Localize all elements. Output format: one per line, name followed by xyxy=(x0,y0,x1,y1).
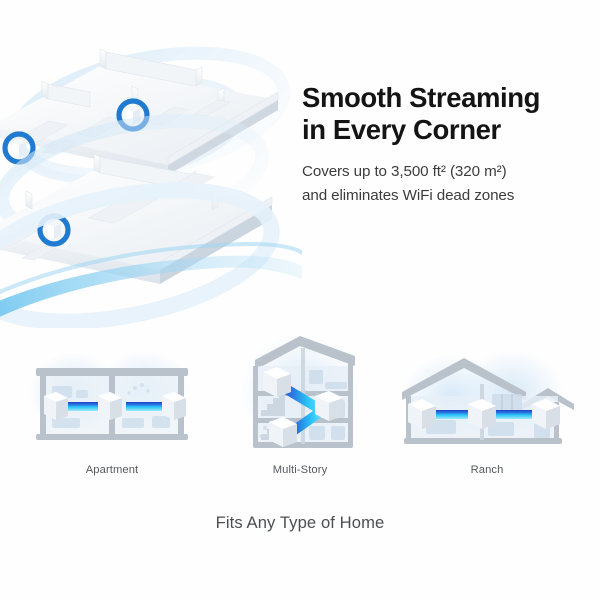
home-type-multistory: Multi-Story xyxy=(205,330,395,476)
page-title: Smooth Streaming in Every Corner xyxy=(302,82,582,146)
ranch-cutaway-icon xyxy=(392,330,582,460)
floorplan-illustration xyxy=(0,18,302,328)
multistory-cutaway-icon xyxy=(205,330,395,460)
home-type-label: Apartment xyxy=(22,464,202,476)
hero-copy: Smooth Streaming in Every Corner Covers … xyxy=(302,82,582,208)
home-type-apartment: Apartment xyxy=(22,330,202,476)
promo-graphic: Smooth Streaming in Every Corner Covers … xyxy=(0,0,600,600)
mesh-cube xyxy=(98,392,122,420)
home-type-ranch: Ranch xyxy=(392,330,582,476)
apartment-cutaway-icon xyxy=(22,330,202,460)
home-type-label: Ranch xyxy=(392,464,582,476)
hero-subtitle: Covers up to 3,500 ft² (320 m²) and elim… xyxy=(302,160,582,207)
home-types-caption: Fits Any Type of Home xyxy=(0,513,600,533)
mesh-cube xyxy=(44,392,68,420)
mesh-cube xyxy=(162,392,186,420)
home-type-row: Apartment xyxy=(0,330,600,500)
home-type-label: Multi-Story xyxy=(205,464,395,476)
